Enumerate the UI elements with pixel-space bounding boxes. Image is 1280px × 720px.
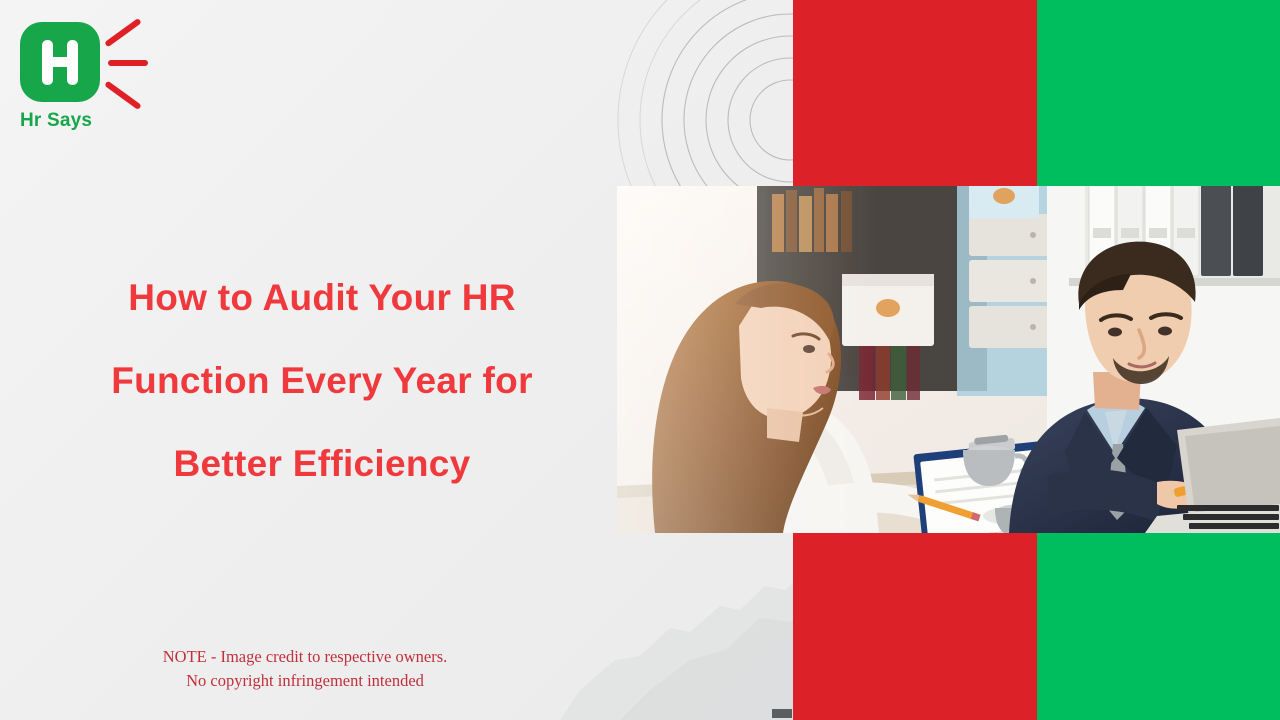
note-line-2: No copyright infringement intended (80, 669, 530, 693)
logo-ray-middle-icon (108, 60, 148, 66)
presentation-slide: Hr Says How to Audit Your HR Function Ev… (0, 0, 1280, 720)
title-line-1: How to Audit Your HR (72, 256, 572, 339)
logo-ray-top-icon (104, 18, 142, 48)
note-line-1: NOTE - Image credit to respective owners… (80, 645, 530, 669)
title-line-2: Function Every Year for (72, 339, 572, 422)
logo-mark-square (20, 22, 100, 102)
logo-letter-h-icon (20, 22, 100, 102)
bottom-edge-artifact (772, 709, 792, 718)
brand-logo[interactable]: Hr Says (18, 22, 168, 140)
red-block-top-left (793, 0, 1037, 186)
green-block-bottom-right (1037, 533, 1280, 720)
hero-photo (617, 186, 1280, 533)
green-block-top-right (1037, 0, 1280, 186)
logo-ray-bottom-icon (104, 81, 142, 111)
title-line-3: Better Efficiency (72, 422, 572, 505)
red-block-bottom-left (793, 533, 1037, 720)
brand-name: Hr Says (20, 110, 92, 132)
page-title: How to Audit Your HR Function Every Year… (72, 256, 572, 505)
copyright-note: NOTE - Image credit to respective owners… (80, 645, 530, 693)
